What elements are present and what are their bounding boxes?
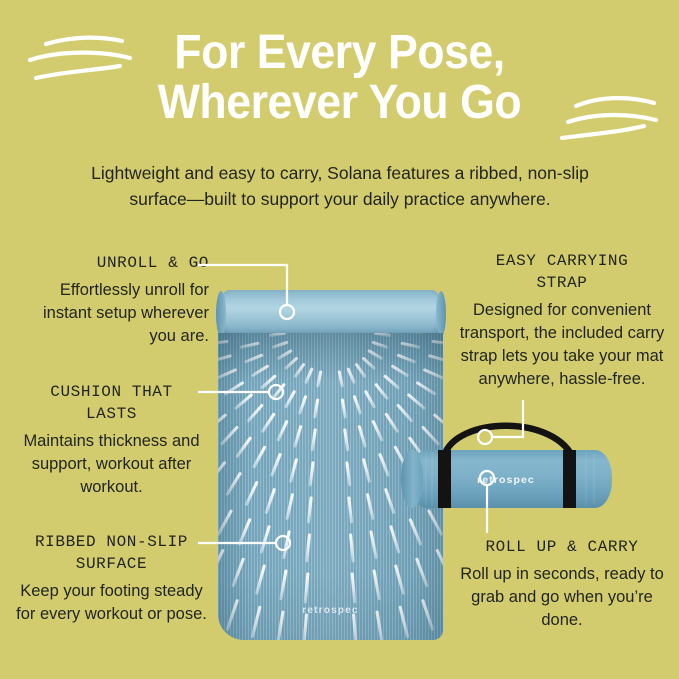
strap-band-left: [438, 450, 451, 508]
page-title: For Every Pose, Wherever You Go: [0, 28, 679, 128]
callout-title: RIBBED NON-SLIP SURFACE: [14, 531, 209, 575]
headline-line-1: For Every Pose,: [24, 28, 655, 78]
callout-cushion-that-lasts: CUSHION THAT LASTS Maintains thickness a…: [14, 381, 209, 499]
headline-line-2: Wherever You Go: [24, 78, 655, 128]
mat-top-roll: [218, 290, 443, 338]
product-infographic: For Every Pose, Wherever You Go Lightwei…: [0, 0, 679, 679]
callout-title: UNROLL & GO: [14, 252, 209, 274]
yoga-mat-rolled: retrospec: [396, 404, 626, 534]
callout-body: Effortlessly unroll for instant setup wh…: [14, 279, 209, 348]
subtitle-text: Lightweight and easy to carry, Solana fe…: [90, 160, 590, 212]
mat-roll-cap-right: [436, 291, 446, 337]
rolled-mat-end-cap: [401, 450, 423, 508]
mat-roll-cap-left: [216, 291, 226, 337]
callout-title: EASY CARRYING STRAP: [458, 250, 666, 294]
callout-easy-carrying-strap: EASY CARRYING STRAP Designed for conveni…: [458, 250, 666, 391]
strap-band-right: [563, 450, 576, 508]
callout-body: Roll up in seconds, ready to grab and go…: [458, 563, 666, 632]
rolled-mat-wordmark: retrospec: [477, 474, 535, 486]
callout-roll-up-and-carry: ROLL UP & CARRY Roll up in seconds, read…: [458, 536, 666, 632]
callout-title: ROLL UP & CARRY: [458, 536, 666, 558]
callout-body: Maintains thickness and support, workout…: [14, 430, 209, 499]
callout-ribbed-non-slip-surface: RIBBED NON-SLIP SURFACE Keep your footin…: [14, 531, 209, 626]
callout-body: Keep your footing steady for every worko…: [14, 580, 209, 626]
mat-brand-wordmark: retrospec: [218, 605, 443, 616]
callout-body: Designed for convenient transport, the i…: [458, 299, 666, 391]
callout-unroll-and-go: UNROLL & GO Effortlessly unroll for inst…: [14, 252, 209, 348]
callout-title: CUSHION THAT LASTS: [14, 381, 209, 425]
